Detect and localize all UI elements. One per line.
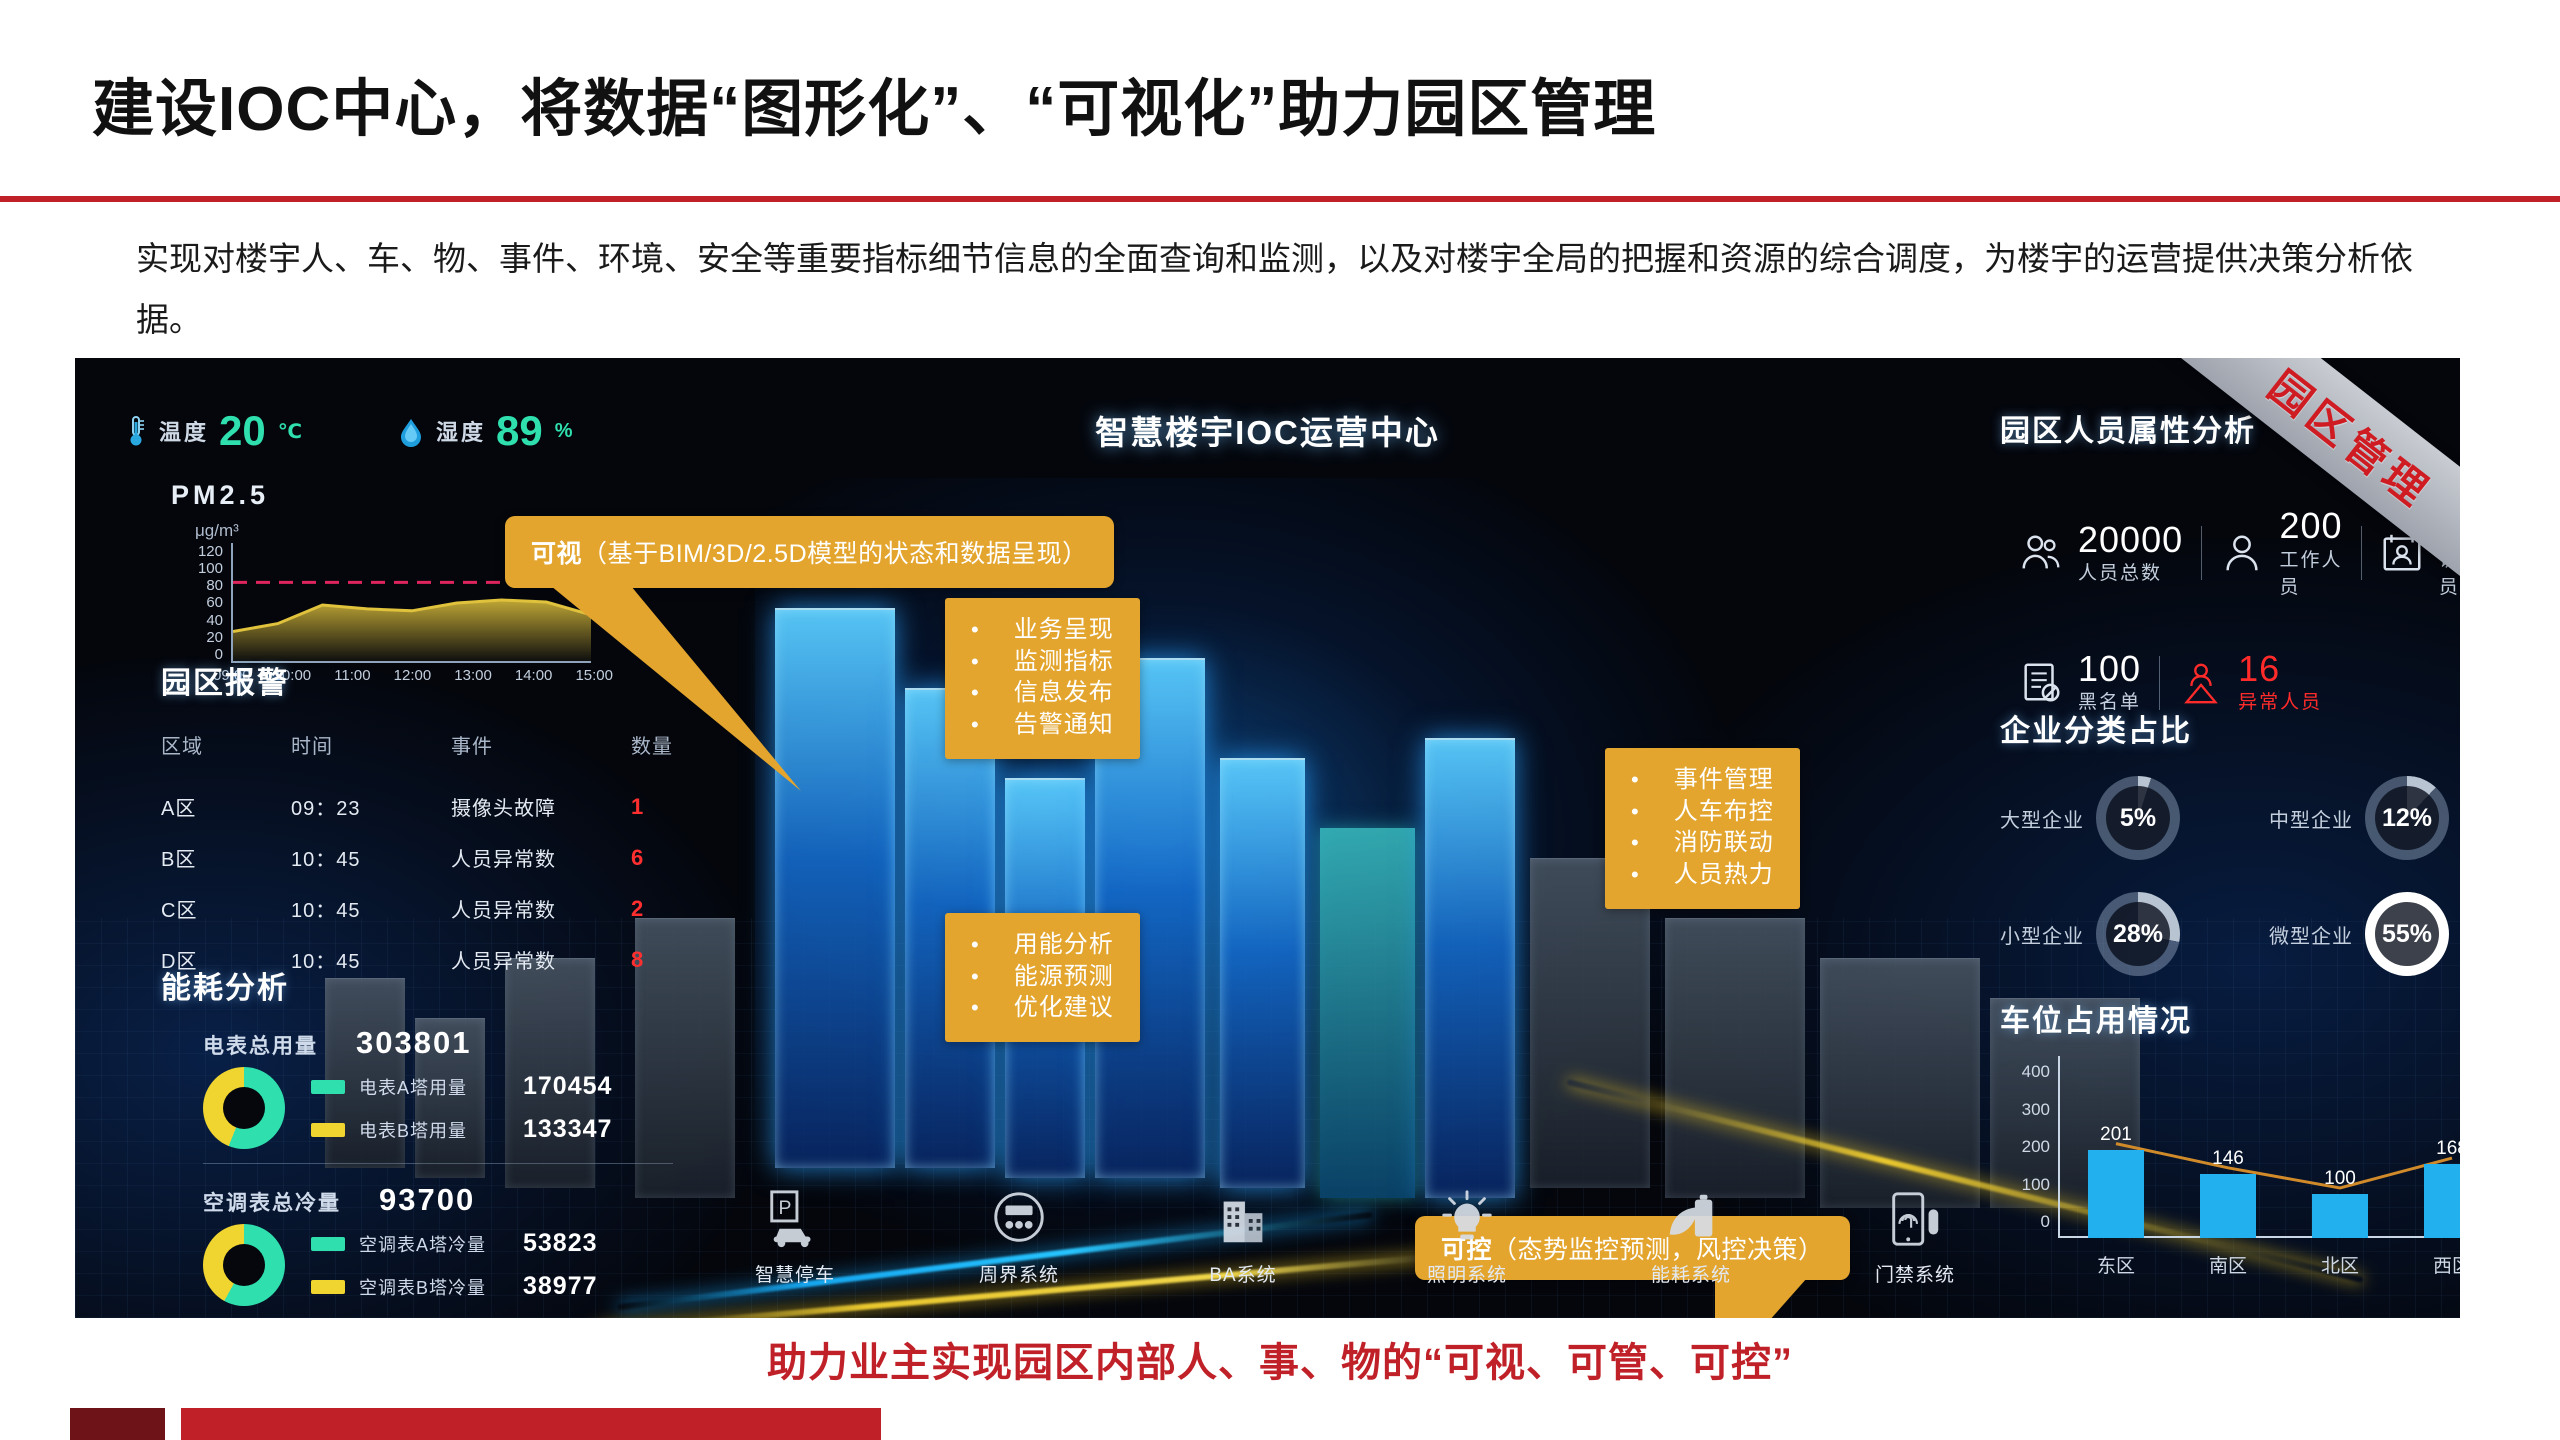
svg-text:P: P — [779, 1197, 792, 1219]
legend-value: 133347 — [523, 1115, 612, 1144]
env-temperature-label: 温度 — [159, 415, 209, 447]
system-label: 周界系统 — [979, 1260, 1059, 1287]
alarm-col-header: 时间 — [291, 724, 451, 781]
footer-bar — [70, 1408, 165, 1440]
pm25-y-tick: 100 — [198, 560, 223, 577]
lightbulb-icon — [1436, 1188, 1498, 1250]
parking-x-tick: 西区 — [2416, 1251, 2460, 1278]
bullets-visible: 业务呈现监测指标信息发布告警通知 — [945, 598, 1140, 759]
energy-group-header: 电表总用量303801 — [203, 1025, 761, 1061]
energy-donut — [203, 1067, 285, 1149]
stat-person: 200工作人员 — [2201, 508, 2360, 599]
table-row: B区10：45人员异常数6 — [161, 832, 701, 883]
parking-bar — [2312, 1194, 2368, 1238]
env-temperature-value: 20 — [219, 410, 266, 452]
energy-groups: 电表总用量303801电表A塔用量170454电表B塔用量133347空调表总冷… — [161, 1025, 761, 1306]
battery-leaf-icon — [1660, 1188, 1722, 1250]
bullet-item: 消防联动 — [1631, 827, 1774, 859]
parking-car-icon: P — [764, 1188, 826, 1250]
alarm-event: 人员异常数 — [451, 832, 631, 883]
stat-text: 100黑名单 — [2078, 651, 2141, 715]
enterprise-label: 大型企业 — [2000, 804, 2084, 833]
enterprise-item: 小型企业28% — [2000, 892, 2261, 976]
environment-strip: 温度 20 ℃ 湿度 89 % — [123, 410, 572, 452]
bullet-item: 优化建议 — [971, 992, 1114, 1024]
thermometer-icon — [123, 414, 149, 448]
parking-bar-value: 100 — [2324, 1168, 2356, 1190]
legend-value: 53823 — [523, 1229, 598, 1258]
city-block-highlight — [1220, 758, 1305, 1188]
legend-row: 空调表B塔冷量38977 — [311, 1272, 598, 1301]
alarm-table-body: A区09：23摄像头故障1B区10：45人员异常数6C区10：45人员异常数2D… — [161, 781, 701, 985]
bullets-visible-list: 业务呈现监测指标信息发布告警通知 — [971, 614, 1114, 741]
enterprise-percent: 28% — [2113, 920, 2163, 949]
enterprise-item: 大型企业5% — [2000, 776, 2261, 860]
callout-visible-strong: 可视 — [531, 534, 582, 570]
parking-y-tick: 200 — [2022, 1137, 2050, 1157]
parking-x-tick: 南区 — [2192, 1251, 2264, 1278]
env-humidity-value: 89 — [496, 410, 543, 452]
env-humidity: 湿度 89 % — [396, 410, 573, 452]
people-group-icon — [2018, 530, 2064, 576]
pm25-title: PM2.5 — [171, 480, 611, 511]
system-label: 门禁系统 — [1875, 1260, 1955, 1287]
energy-group-header: 空调表总冷量93700 — [203, 1182, 761, 1218]
enterprise-grid: 大型企业5%中型企业12%小型企业28%微型企业55% — [2000, 776, 2460, 976]
legend-label: 电表A塔用量 — [359, 1074, 509, 1100]
system-label: 照明系统 — [1427, 1260, 1507, 1287]
energy-title: 能耗分析 — [161, 963, 761, 1007]
legend-label: 空调表B塔冷量 — [359, 1274, 509, 1300]
energy-group-body: 空调表A塔冷量53823空调表B塔冷量38977 — [203, 1224, 761, 1306]
stat-blacklist-doc: 100黑名单 — [2000, 651, 2159, 715]
enterprise-ring: 28% — [2096, 892, 2180, 976]
alarm-qty: 2 — [631, 883, 701, 934]
alarm-time: 09：23 — [291, 781, 451, 832]
legend-swatch — [311, 1123, 345, 1137]
energy-divider — [203, 1163, 673, 1164]
parking-bar — [2088, 1150, 2144, 1238]
alarm-area: C区 — [161, 883, 291, 934]
city-block-highlight — [1425, 738, 1515, 1198]
footer-bar — [0, 1408, 70, 1440]
alarm-time: 10：45 — [291, 832, 451, 883]
city-block — [1665, 918, 1805, 1198]
stat-value: 200 — [2279, 508, 2342, 545]
parking-x-tick: 东区 — [2080, 1251, 2152, 1278]
parking-bar-column: 146 — [2192, 1062, 2264, 1238]
energy-donut — [203, 1224, 285, 1306]
callout-visible-tail — [551, 586, 851, 796]
enterprise-ring: 12% — [2365, 776, 2449, 860]
building-icon — [1212, 1188, 1274, 1250]
alarm-time: 10：45 — [291, 883, 451, 934]
bullet-item: 业务呈现 — [971, 614, 1114, 646]
parking-panel: 车位占用情况 4003002001000 201146100168 东区南区北区… — [2000, 996, 2460, 1286]
system-icons-row: P 智慧停车 周界系统 — [715, 1188, 1995, 1287]
enterprise-item: 中型企业12% — [2269, 776, 2460, 860]
energy-legend: 空调表A塔冷量53823空调表B塔冷量38977 — [311, 1229, 598, 1301]
bullets-control-list: 事件管理人车布控消防联动人员热力 — [1631, 764, 1774, 891]
stat-label: 工作人员 — [2279, 545, 2342, 599]
stat-text: 16异常人员 — [2238, 651, 2322, 715]
table-row: C区10：45人员异常数2 — [161, 883, 701, 934]
energy-legend: 电表A塔用量170454电表B塔用量133347 — [311, 1072, 612, 1144]
energy-group-label: 空调表总冷量 — [203, 1187, 341, 1217]
system-label: 能耗系统 — [1651, 1260, 1731, 1287]
ioc-dashboard: 智慧楼宇IOC运营中心 温度 20 ℃ 湿度 89 % — [75, 358, 2460, 1318]
parking-x-tick: 北区 — [2304, 1251, 2376, 1278]
stat-text: 20000人员总数 — [2078, 522, 2183, 586]
bullet-item: 监测指标 — [971, 646, 1114, 678]
enterprise-item: 微型企业55% — [2269, 892, 2460, 976]
bullet-item: 信息发布 — [971, 677, 1114, 709]
stat-value: 20000 — [2078, 522, 2183, 559]
city-block — [1320, 828, 1415, 1198]
parking-chart: 4003002001000 201146100168 东区南区北区西区 — [2000, 1056, 2460, 1286]
pm25-y-tick: 20 — [206, 629, 223, 646]
parking-y-tick: 400 — [2022, 1062, 2050, 1082]
parking-y-tick: 100 — [2022, 1175, 2050, 1195]
pm25-y-axis: 120100806040200 — [171, 543, 223, 663]
callout-visible-rest: （基于BIM/3D/2.5D模型的状态和数据呈现） — [582, 534, 1088, 570]
enterprise-ring: 5% — [2096, 776, 2180, 860]
stat-person-warning: 16异常人员 — [2160, 651, 2340, 715]
footer-bar — [881, 1408, 2560, 1440]
intro-paragraph: 实现对楼宇人、车、物、事件、环境、安全等重要指标细节信息的全面查询和监测，以及对… — [136, 228, 2426, 350]
energy-group-total: 303801 — [356, 1025, 471, 1061]
page-title: 建设IOC中心，将数据“图形化”、“可视化”助力园区管理 — [92, 58, 1656, 148]
system-access-control[interactable]: 门禁系统 — [1835, 1188, 1995, 1287]
perimeter-sensor-icon — [988, 1188, 1050, 1250]
legend-row: 电表B塔用量133347 — [311, 1115, 612, 1144]
enterprise-label: 小型企业 — [2000, 920, 2084, 949]
callout-visible[interactable]: 可视（基于BIM/3D/2.5D模型的状态和数据呈现） — [505, 516, 1114, 588]
pm25-y-tick: 80 — [206, 577, 223, 594]
fingerprint-phone-icon — [1884, 1188, 1946, 1250]
bullets-energy: 用能分析能源预测优化建议 — [945, 913, 1140, 1042]
energy-group-label: 电表总用量 — [203, 1030, 318, 1060]
enterprise-label: 微型企业 — [2269, 920, 2353, 949]
parking-title: 车位占用情况 — [2000, 996, 2460, 1040]
parking-bar-column: 168 — [2416, 1062, 2460, 1238]
legend-swatch — [311, 1237, 345, 1251]
alarm-area: B区 — [161, 832, 291, 883]
parking-bar-column: 100 — [2304, 1062, 2376, 1238]
alarm-event: 人员异常数 — [451, 883, 631, 934]
bullet-item: 用能分析 — [971, 929, 1114, 961]
system-smart-parking[interactable]: P 智慧停车 — [715, 1188, 875, 1287]
bullets-control: 事件管理人车布控消防联动人员热力 — [1605, 748, 1800, 909]
system-label: 智慧停车 — [755, 1260, 835, 1287]
parking-bars: 201146100168 — [2060, 1062, 2460, 1238]
parking-y-axis: 4003002001000 — [2000, 1062, 2050, 1232]
parking-bar-value: 146 — [2212, 1148, 2244, 1170]
enterprise-percent: 12% — [2382, 804, 2432, 833]
legend-value: 38977 — [523, 1272, 598, 1301]
alarm-col-header: 区域 — [161, 724, 291, 781]
energy-group: 电表总用量303801电表A塔用量170454电表B塔用量133347 — [161, 1025, 761, 1149]
parking-bar-value: 168 — [2436, 1138, 2460, 1160]
enterprise-percent: 55% — [2382, 920, 2432, 949]
legend-label: 空调表A塔冷量 — [359, 1231, 509, 1257]
parking-bar — [2424, 1164, 2460, 1238]
enterprise-panel: 企业分类占比 大型企业5%中型企业12%小型企业28%微型企业55% — [2000, 706, 2460, 976]
legend-swatch — [311, 1080, 345, 1094]
pm25-y-tick: 40 — [206, 612, 223, 629]
pm25-y-tick: 60 — [206, 594, 223, 611]
person-icon — [2219, 530, 2265, 576]
enterprise-title: 企业分类占比 — [2000, 706, 2460, 750]
parking-y-tick: 0 — [2041, 1212, 2050, 1232]
enterprise-percent: 5% — [2120, 804, 2156, 833]
stat-people-group: 20000人员总数 — [2000, 522, 2201, 586]
enterprise-label: 中型企业 — [2269, 804, 2353, 833]
stat-text: 200工作人员 — [2279, 508, 2342, 599]
stat-value: 16 — [2238, 651, 2322, 688]
env-temperature-unit: ℃ — [278, 419, 302, 444]
person-warning-icon — [2178, 660, 2224, 706]
city-block — [1820, 958, 1980, 1208]
energy-group: 空调表总冷量93700空调表A塔冷量53823空调表B塔冷量38977 — [161, 1182, 761, 1306]
footer-slogan: 助力业主实现园区内部人、事、物的“可视、可管、可控” — [0, 1330, 2560, 1388]
alarm-area: A区 — [161, 781, 291, 832]
parking-bar-column: 201 — [2080, 1062, 2152, 1238]
parking-bar-value: 201 — [2100, 1124, 2132, 1146]
bullet-item: 能源预测 — [971, 961, 1114, 993]
energy-panel: 能耗分析 电表总用量303801电表A塔用量170454电表B塔用量133347… — [161, 963, 761, 1306]
env-humidity-label: 湿度 — [436, 415, 486, 447]
footer-bar — [181, 1408, 881, 1440]
env-temperature: 温度 20 ℃ — [123, 410, 302, 452]
legend-swatch — [311, 1280, 345, 1294]
people-row-2: 100黑名单16异常人员 — [2000, 651, 2460, 715]
system-perimeter[interactable]: 周界系统 — [939, 1188, 1099, 1287]
stat-value: 100 — [2078, 651, 2141, 688]
energy-group-total: 93700 — [379, 1182, 475, 1218]
alarm-qty: 6 — [631, 832, 701, 883]
footer-bar — [165, 1408, 181, 1440]
bullet-item: 事件管理 — [1631, 764, 1774, 796]
system-ba[interactable]: BA系统 — [1163, 1188, 1323, 1287]
system-energy[interactable]: 能耗系统 — [1611, 1188, 1771, 1287]
title-divider — [0, 196, 2560, 202]
bullet-item: 人员热力 — [1631, 859, 1774, 891]
parking-bar — [2200, 1174, 2256, 1238]
legend-row: 电表A塔用量170454 — [311, 1072, 612, 1101]
dashboard-title: 智慧楼宇IOC运营中心 — [1095, 406, 1440, 454]
water-drop-icon — [396, 415, 426, 447]
parking-x-axis: 东区南区北区西区 — [2060, 1251, 2460, 1278]
system-lighting[interactable]: 照明系统 — [1387, 1188, 1547, 1287]
bullets-energy-list: 用能分析能源预测优化建议 — [971, 929, 1114, 1024]
energy-group-body: 电表A塔用量170454电表B塔用量133347 — [203, 1067, 761, 1149]
env-humidity-unit: % — [555, 420, 573, 443]
pm25-y-tick: 120 — [198, 543, 223, 560]
blacklist-doc-icon — [2018, 660, 2064, 706]
bullet-item: 告警通知 — [971, 709, 1114, 741]
parking-y-tick: 300 — [2022, 1100, 2050, 1120]
bullet-item: 人车布控 — [1631, 796, 1774, 828]
footer-bars — [0, 1408, 2560, 1440]
people-stat-rows: 20000人员总数200工作人员400访客人员 100黑名单16异常人员 — [2000, 508, 2460, 714]
legend-row: 空调表A塔冷量53823 — [311, 1229, 598, 1258]
system-label: BA系统 — [1209, 1260, 1276, 1287]
legend-label: 电表B塔用量 — [359, 1117, 509, 1143]
stat-label: 人员总数 — [2078, 558, 2183, 585]
legend-value: 170454 — [523, 1072, 612, 1101]
enterprise-ring: 55% — [2365, 892, 2449, 976]
